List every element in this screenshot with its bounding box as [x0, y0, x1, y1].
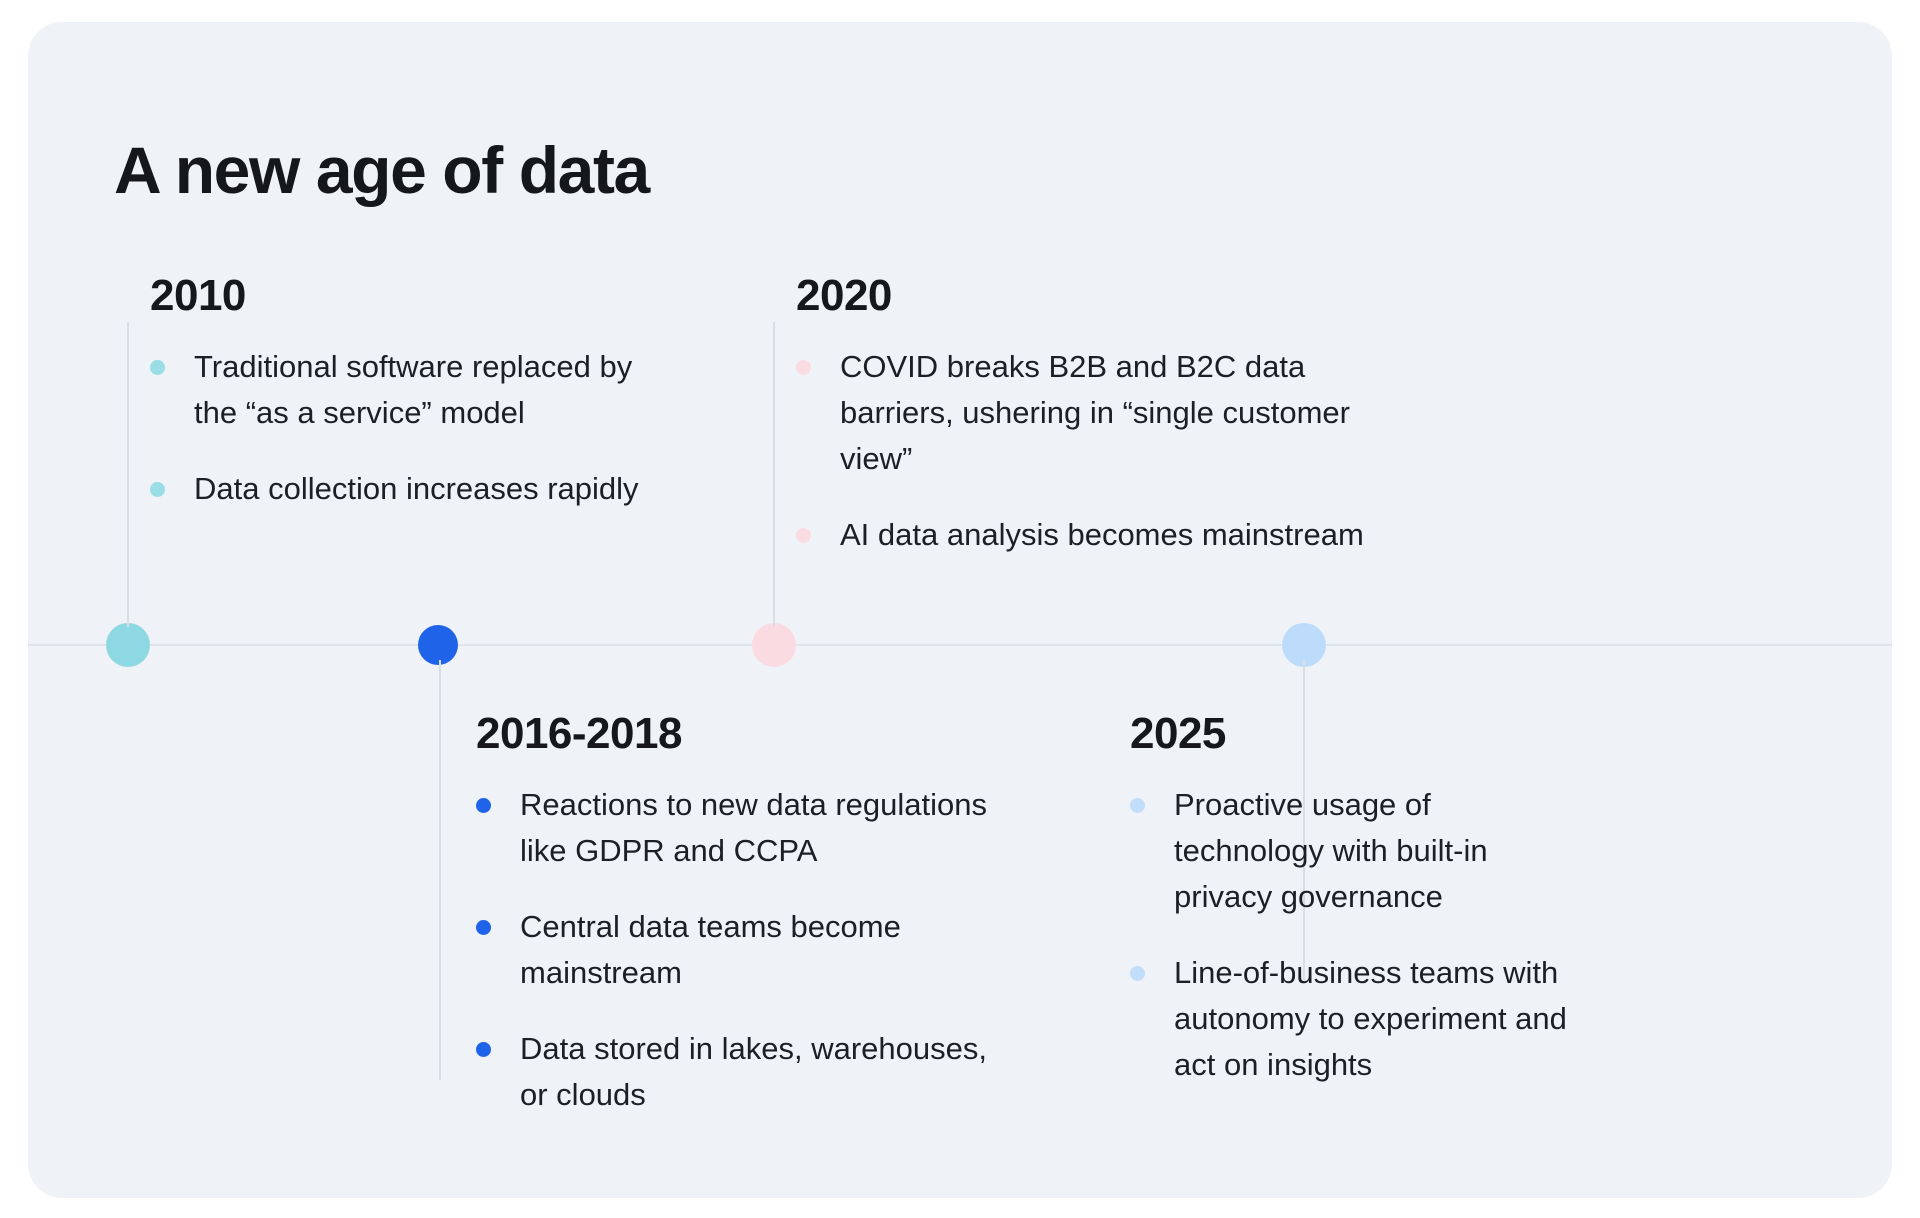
- bullet-dot-icon: [796, 528, 811, 543]
- timeline-year-2025: 2025: [1130, 712, 1580, 756]
- list-item: Central data teams become mainstream: [476, 904, 996, 996]
- list-item: Traditional software replaced by the “as…: [150, 344, 680, 436]
- list-item: Data collection increases rapidly: [150, 466, 680, 512]
- timeline-block-2025: 2025 Proactive usage of technology with …: [1130, 712, 1580, 1088]
- list-item-text: Reactions to new data regulations like G…: [520, 787, 987, 868]
- timeline-block-2016-2018: 2016-2018 Reactions to new data regulati…: [476, 712, 996, 1118]
- list-item: Data stored in lakes, warehouses, or clo…: [476, 1026, 996, 1118]
- bullet-dot-icon: [476, 798, 491, 813]
- timeline-year-2010: 2010: [150, 274, 680, 318]
- bullet-dot-icon: [150, 482, 165, 497]
- timeline-bullets-2016-2018: Reactions to new data regulations like G…: [476, 782, 996, 1118]
- list-item-text: Traditional software replaced by the “as…: [194, 349, 632, 430]
- timeline-node-dot-2020[interactable]: [752, 623, 796, 667]
- timeline-year-2020: 2020: [796, 274, 1416, 318]
- list-item: AI data analysis becomes mainstream: [796, 512, 1416, 558]
- timeline-axis: [28, 644, 1892, 646]
- bullet-dot-icon: [150, 360, 165, 375]
- timeline-bullets-2020: COVID breaks B2B and B2C data barriers, …: [796, 344, 1416, 558]
- timeline-card: A new age of data 2010 Traditional softw…: [28, 22, 1892, 1198]
- timeline-node-dot-2010[interactable]: [106, 623, 150, 667]
- list-item-text: COVID breaks B2B and B2C data barriers, …: [840, 349, 1350, 476]
- page-title: A new age of data: [114, 134, 649, 207]
- list-item-text: Proactive usage of technology with built…: [1174, 787, 1488, 914]
- bullet-dot-icon: [1130, 966, 1145, 981]
- timeline-stem-2010: [127, 322, 129, 627]
- timeline-bullets-2025: Proactive usage of technology with built…: [1130, 782, 1580, 1088]
- list-item-text: Data collection increases rapidly: [194, 471, 639, 506]
- timeline-node-dot-2016-2018[interactable]: [418, 625, 458, 665]
- list-item-text: Central data teams become mainstream: [520, 909, 901, 990]
- list-item: Reactions to new data regulations like G…: [476, 782, 996, 874]
- timeline-stem-2016-2018: [439, 660, 441, 1080]
- timeline-bullets-2010: Traditional software replaced by the “as…: [150, 344, 680, 512]
- list-item-text: Line-of-business teams with autonomy to …: [1174, 955, 1567, 1082]
- list-item: COVID breaks B2B and B2C data barriers, …: [796, 344, 1416, 482]
- bullet-dot-icon: [476, 1042, 491, 1057]
- timeline-stem-2020: [773, 322, 775, 627]
- bullet-dot-icon: [476, 920, 491, 935]
- timeline-block-2010: 2010 Traditional software replaced by th…: [150, 274, 680, 512]
- bullet-dot-icon: [1130, 798, 1145, 813]
- timeline-year-2016-2018: 2016-2018: [476, 712, 996, 756]
- bullet-dot-icon: [796, 360, 811, 375]
- list-item-text: Data stored in lakes, warehouses, or clo…: [520, 1031, 987, 1112]
- list-item: Proactive usage of technology with built…: [1130, 782, 1580, 920]
- list-item: Line-of-business teams with autonomy to …: [1130, 950, 1580, 1088]
- timeline-block-2020: 2020 COVID breaks B2B and B2C data barri…: [796, 274, 1416, 558]
- list-item-text: AI data analysis becomes mainstream: [840, 517, 1364, 552]
